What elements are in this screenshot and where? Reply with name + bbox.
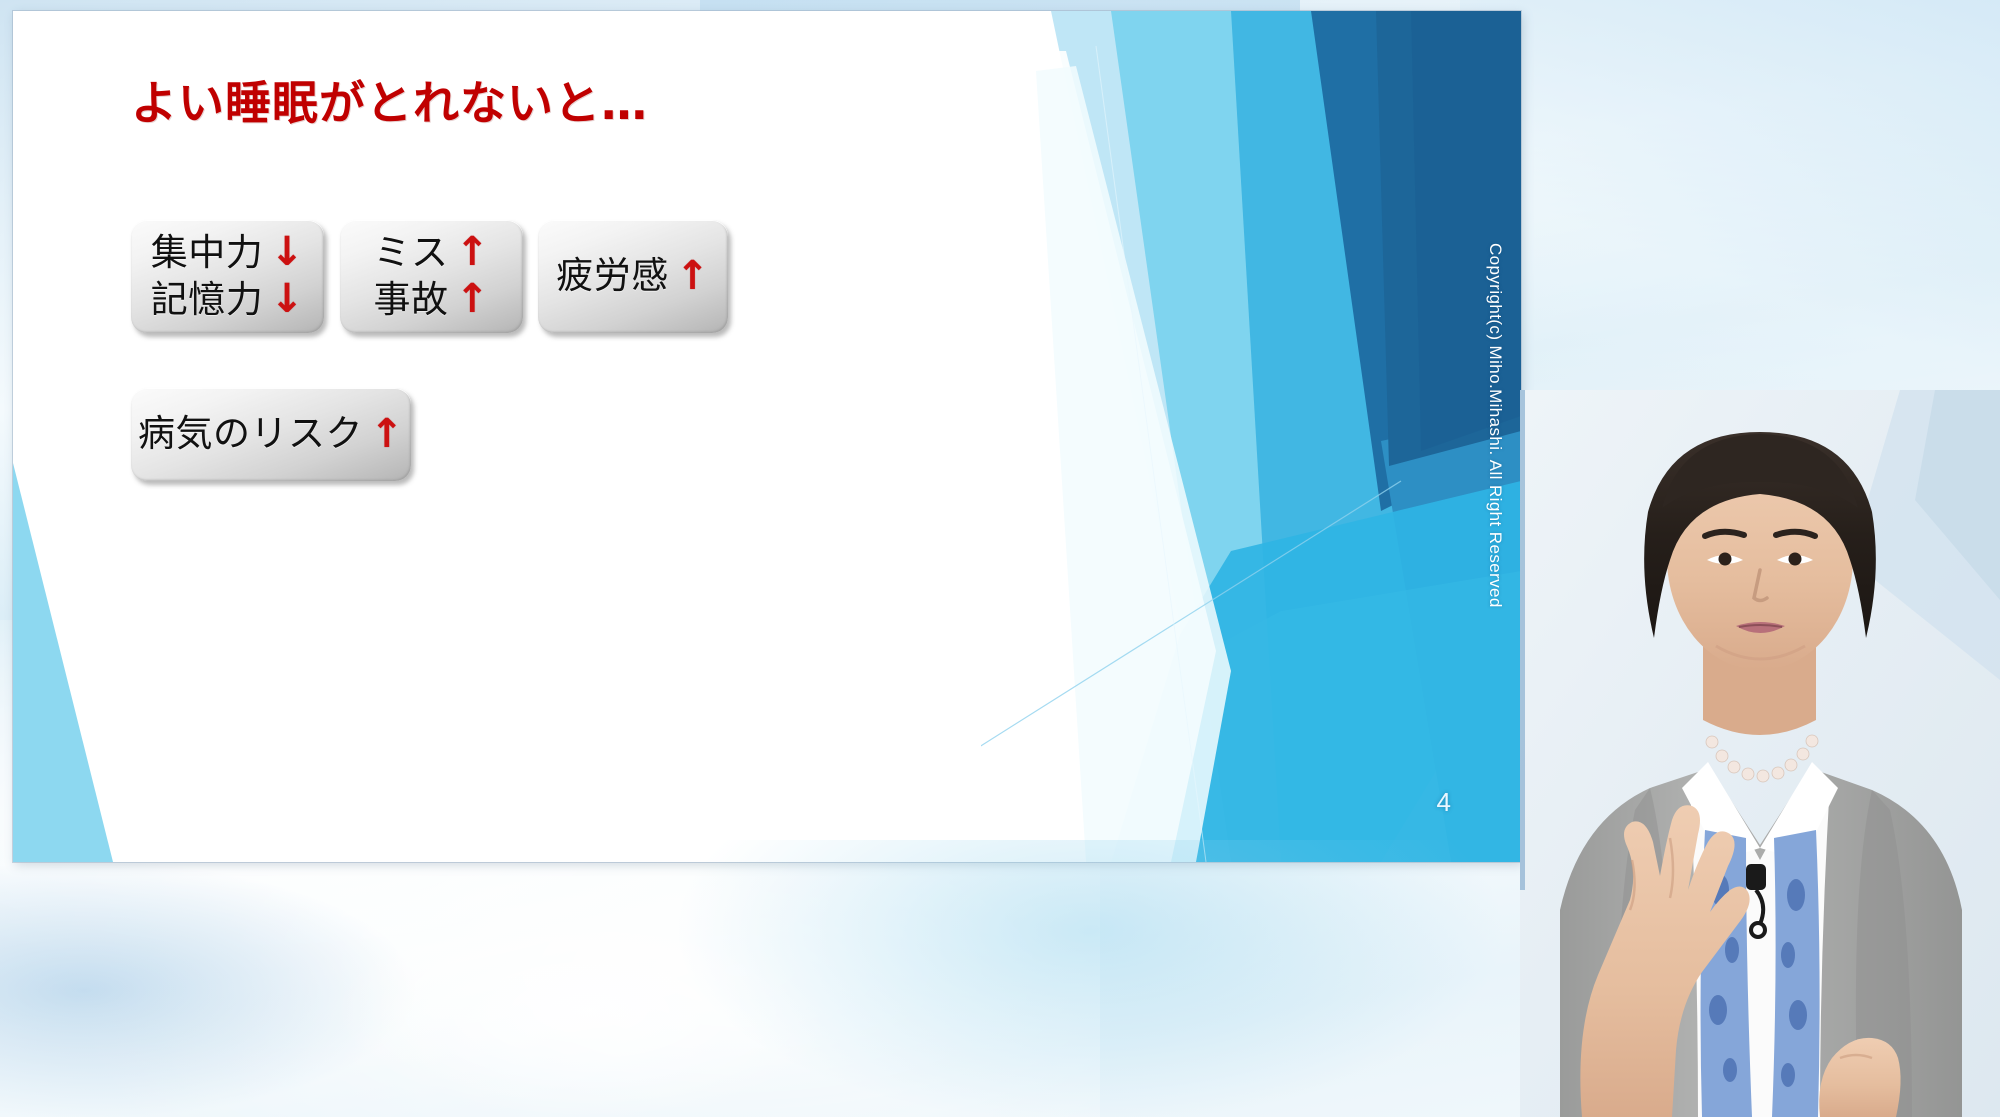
- down-arrow-icon: ↓: [270, 232, 304, 272]
- sky-cloud-blob: [330, 900, 850, 1117]
- consequence-box-illness: 病気のリスク ↑: [131, 388, 411, 481]
- presentation-slide: Copyright(c) Miho.Mihashi. All Right Res…: [13, 11, 1521, 862]
- box-line: 事故 ↑: [373, 277, 489, 323]
- presenter-figure: [1520, 390, 2000, 1117]
- video-frame: Copyright(c) Miho.Mihashi. All Right Res…: [0, 0, 2000, 1117]
- sky-cloud-blob: [0, 860, 420, 1117]
- decoration-shapes: [981, 11, 1521, 862]
- up-arrow-icon: ↑: [676, 256, 710, 296]
- box-label: ミス: [373, 230, 448, 276]
- box-line: ミス ↑: [373, 230, 489, 276]
- box-label: 集中力: [151, 230, 264, 276]
- down-arrow-icon: ↓: [270, 279, 304, 319]
- box-label: 記憶力: [151, 277, 264, 323]
- up-arrow-icon: ↑: [455, 232, 489, 272]
- left-wedge-decoration: [13, 463, 213, 862]
- copyright-notice: Copyright(c) Miho.Mihashi. All Right Res…: [1485, 243, 1505, 608]
- slide-page-number: 4: [1437, 787, 1451, 818]
- box-line: 集中力 ↓: [151, 230, 305, 276]
- consequence-box-mistake: ミス ↑ 事故 ↑: [340, 220, 523, 333]
- box-line: 疲労感 ↑: [556, 253, 710, 299]
- up-arrow-icon: ↑: [455, 279, 489, 319]
- slide-title: よい睡眠がとれないと…: [131, 67, 648, 133]
- up-arrow-icon: ↑: [370, 414, 404, 454]
- consequence-box-focus: 集中力 ↓ 記憶力 ↓: [131, 220, 324, 333]
- presenter-video: [1520, 390, 2000, 1117]
- box-line: 病気のリスク ↑: [138, 411, 404, 457]
- box-label: 疲労感: [556, 253, 669, 299]
- box-line: 記憶力 ↓: [151, 277, 305, 323]
- slide-decoration-panel: Copyright(c) Miho.Mihashi. All Right Res…: [981, 11, 1521, 862]
- box-label: 病気のリスク: [138, 411, 363, 457]
- consequence-box-fatigue: 疲労感 ↑: [538, 220, 728, 333]
- box-label: 事故: [373, 277, 448, 323]
